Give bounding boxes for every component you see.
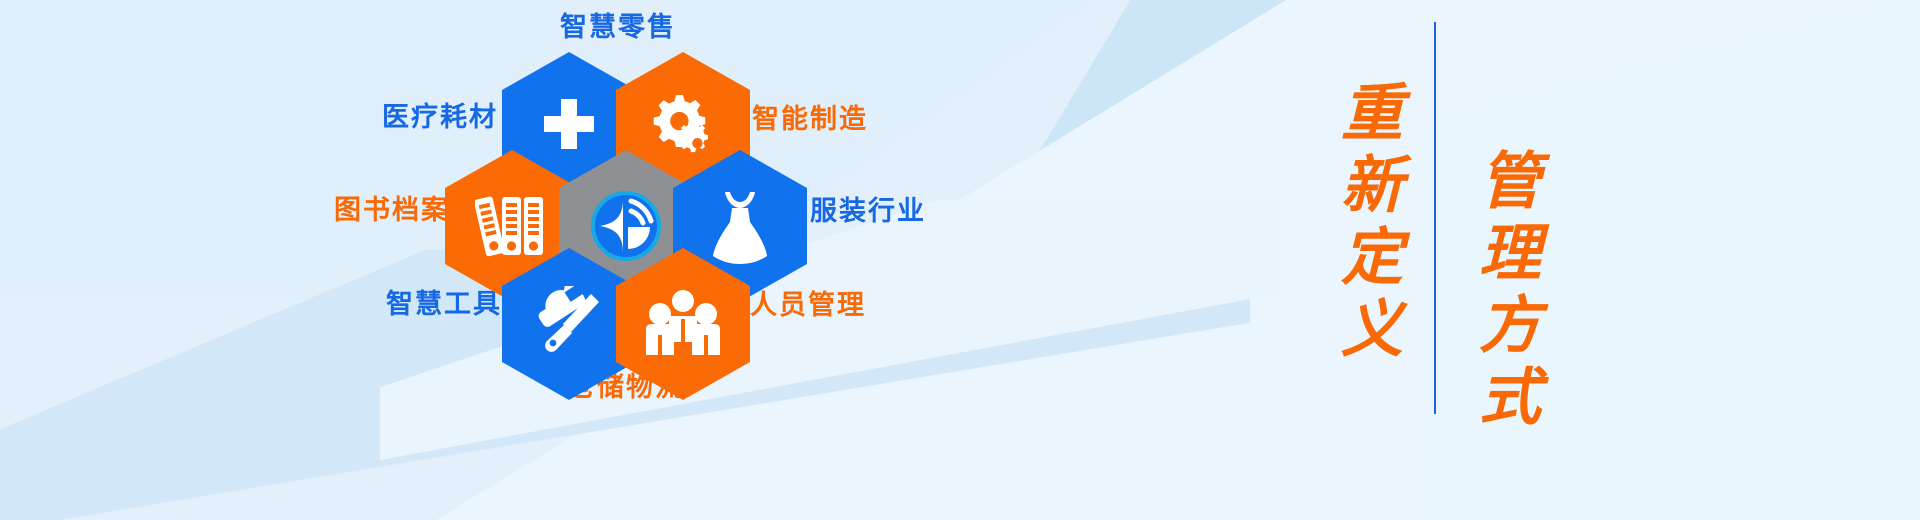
brand-logo-icon xyxy=(587,187,665,265)
vertical-divider xyxy=(1434,22,1436,414)
calligraphy-right-column: 管理方式 xyxy=(1458,82,1544,502)
label-retail: 智慧零售 xyxy=(560,14,676,41)
label-apparel: 服装行业 xyxy=(810,198,926,225)
hexagon-cluster xyxy=(470,52,810,397)
medical-cross-icon xyxy=(536,95,602,161)
calligraphy-left-column: 重新定义 xyxy=(1320,14,1406,434)
label-books: 图书档案 xyxy=(334,197,450,224)
binders-icon xyxy=(475,189,549,263)
gears-icon xyxy=(646,93,720,163)
wrench-screwdriver-icon xyxy=(531,286,607,362)
background-base xyxy=(0,0,1920,520)
banner-canvas: 智慧零售 医疗耗材 智能制造 图书档案 服装行业 智慧工具 人员管理 仓储物流 xyxy=(0,0,1920,520)
people-group-icon xyxy=(643,289,723,359)
dress-icon xyxy=(703,186,777,266)
